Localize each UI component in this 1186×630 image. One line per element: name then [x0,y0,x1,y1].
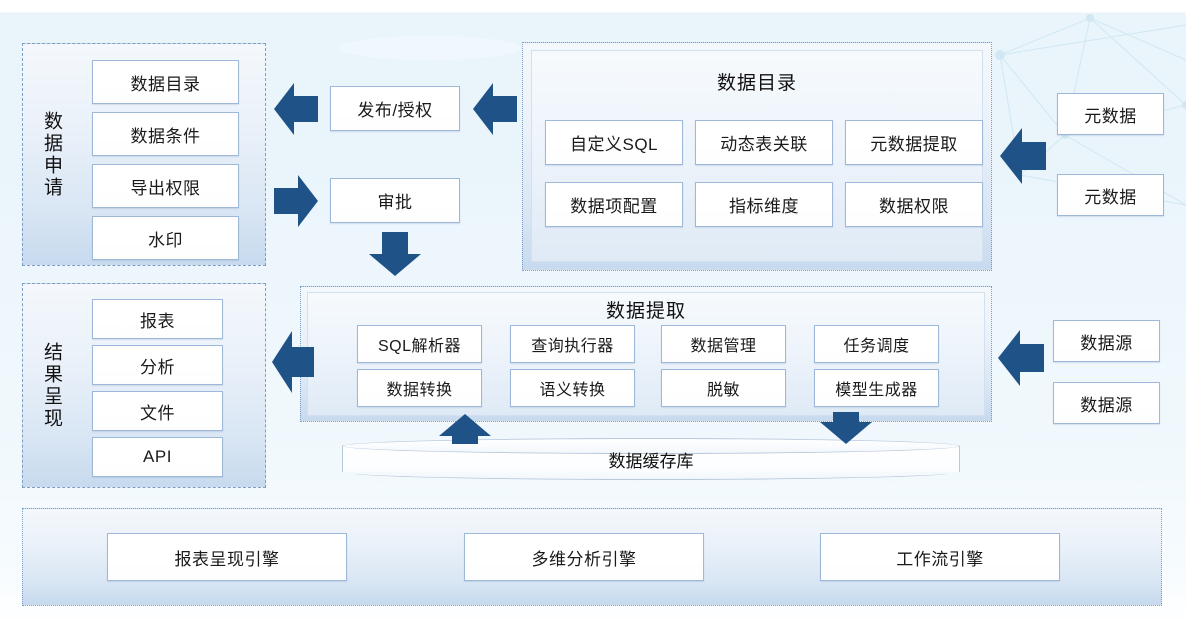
result-item-2[interactable]: 文件 [92,391,223,431]
data-extraction-item-0-label: SQL解析器 [378,332,461,356]
result-item-3[interactable]: API [92,437,223,477]
data-extraction-item-5-label: 语义转换 [539,376,605,400]
arrow-datasource-in [998,330,1044,386]
approve-label: 审批 [378,188,413,213]
arrow-extraction-to-result [272,331,314,393]
data-extraction-item-5[interactable]: 语义转换 [510,369,635,407]
arrow-cache-down [820,412,872,444]
arrow-approve-down [369,232,421,276]
data-extraction-title: 数据提取 [307,296,985,323]
datasource-item-0[interactable]: 数据源 [1053,320,1160,362]
metadata-item-1[interactable]: 元数据 [1057,174,1164,216]
data-catalog-item-4[interactable]: 指标维度 [695,182,833,227]
arrow-catalog-to-publish [473,83,517,135]
publish-authorize-box[interactable]: 发布/授权 [330,86,460,131]
data-cache-cylinder: 数据缓存库 [342,438,960,480]
data-catalog-item-4-label: 指标维度 [729,192,799,217]
data-extraction-item-6[interactable]: 脱敏 [661,369,786,407]
data-cache-label: 数据缓存库 [342,438,960,480]
data-extraction-item-1-label: 查询执行器 [531,332,614,356]
data-catalog-item-1-label: 动态表关联 [720,130,808,155]
data-extraction-item-3-label: 任务调度 [843,332,909,356]
data-request-item-2-label: 导出权限 [131,174,201,199]
data-catalog-item-1[interactable]: 动态表关联 [695,120,833,165]
data-request-side-label: 数据申请 [32,55,70,255]
data-extraction-item-1[interactable]: 查询执行器 [510,325,635,363]
data-extraction-item-4[interactable]: 数据转换 [357,369,482,407]
data-catalog-item-5[interactable]: 数据权限 [845,182,983,227]
data-catalog-item-5-label: 数据权限 [879,192,949,217]
data-catalog-item-0[interactable]: 自定义SQL [545,120,683,165]
data-catalog-item-3[interactable]: 数据项配置 [545,182,683,227]
data-catalog-item-2[interactable]: 元数据提取 [845,120,983,165]
data-extraction-item-2[interactable]: 数据管理 [661,325,786,363]
arrow-publish-to-request [274,83,318,135]
datasource-item-0-label: 数据源 [1080,329,1133,354]
metadata-item-0-label: 元数据 [1084,102,1137,127]
data-extraction-item-7-label: 模型生成器 [835,376,918,400]
datasource-item-1-label: 数据源 [1080,391,1133,416]
data-request-item-3-label: 水印 [148,226,183,251]
data-catalog-item-3-label: 数据项配置 [570,192,658,217]
engine-item-0-label: 报表呈现引擎 [175,545,280,570]
metadata-item-0[interactable]: 元数据 [1057,93,1164,135]
data-extraction-item-2-label: 数据管理 [690,332,756,356]
arrow-request-to-approve [274,175,318,227]
result-item-0[interactable]: 报表 [92,299,223,339]
result-presentation-side-label: 结果呈现 [32,295,70,477]
engine-item-0[interactable]: 报表呈现引擎 [107,533,347,581]
data-request-item-1-label: 数据条件 [131,122,201,147]
publish-authorize-label: 发布/授权 [357,96,432,121]
data-catalog-item-0-label: 自定义SQL [570,130,658,155]
engine-item-1-label: 多维分析引擎 [532,545,637,570]
data-extraction-item-6-label: 脱敏 [707,376,740,400]
data-request-item-3[interactable]: 水印 [92,216,239,260]
data-extraction-item-0[interactable]: SQL解析器 [357,325,482,363]
approve-box[interactable]: 审批 [330,178,460,223]
result-item-1-label: 分析 [140,353,175,378]
data-request-item-1[interactable]: 数据条件 [92,112,239,156]
datasource-item-1[interactable]: 数据源 [1053,382,1160,424]
diagram-canvas: 数据申请 数据目录 数据条件 导出权限 水印 结果呈现 报表 分析 文件 API… [0,0,1186,630]
data-extraction-item-4-label: 数据转换 [386,376,452,400]
result-item-1[interactable]: 分析 [92,345,223,385]
data-request-item-0-label: 数据目录 [131,70,201,95]
data-extraction-item-7[interactable]: 模型生成器 [814,369,939,407]
result-item-2-label: 文件 [140,399,175,424]
arrow-cache-up [439,414,491,444]
result-item-0-label: 报表 [140,307,175,332]
data-request-item-2[interactable]: 导出权限 [92,164,239,208]
arrow-metadata-in [1000,128,1046,184]
data-catalog-title: 数据目录 [531,68,983,95]
data-extraction-item-3[interactable]: 任务调度 [814,325,939,363]
metadata-item-1-label: 元数据 [1084,183,1137,208]
data-catalog-item-2-label: 元数据提取 [870,130,958,155]
data-request-item-0[interactable]: 数据目录 [92,60,239,104]
engine-item-2-label: 工作流引擎 [896,545,984,570]
engine-item-1[interactable]: 多维分析引擎 [464,533,704,581]
result-item-3-label: API [143,447,172,467]
engine-item-2[interactable]: 工作流引擎 [820,533,1060,581]
